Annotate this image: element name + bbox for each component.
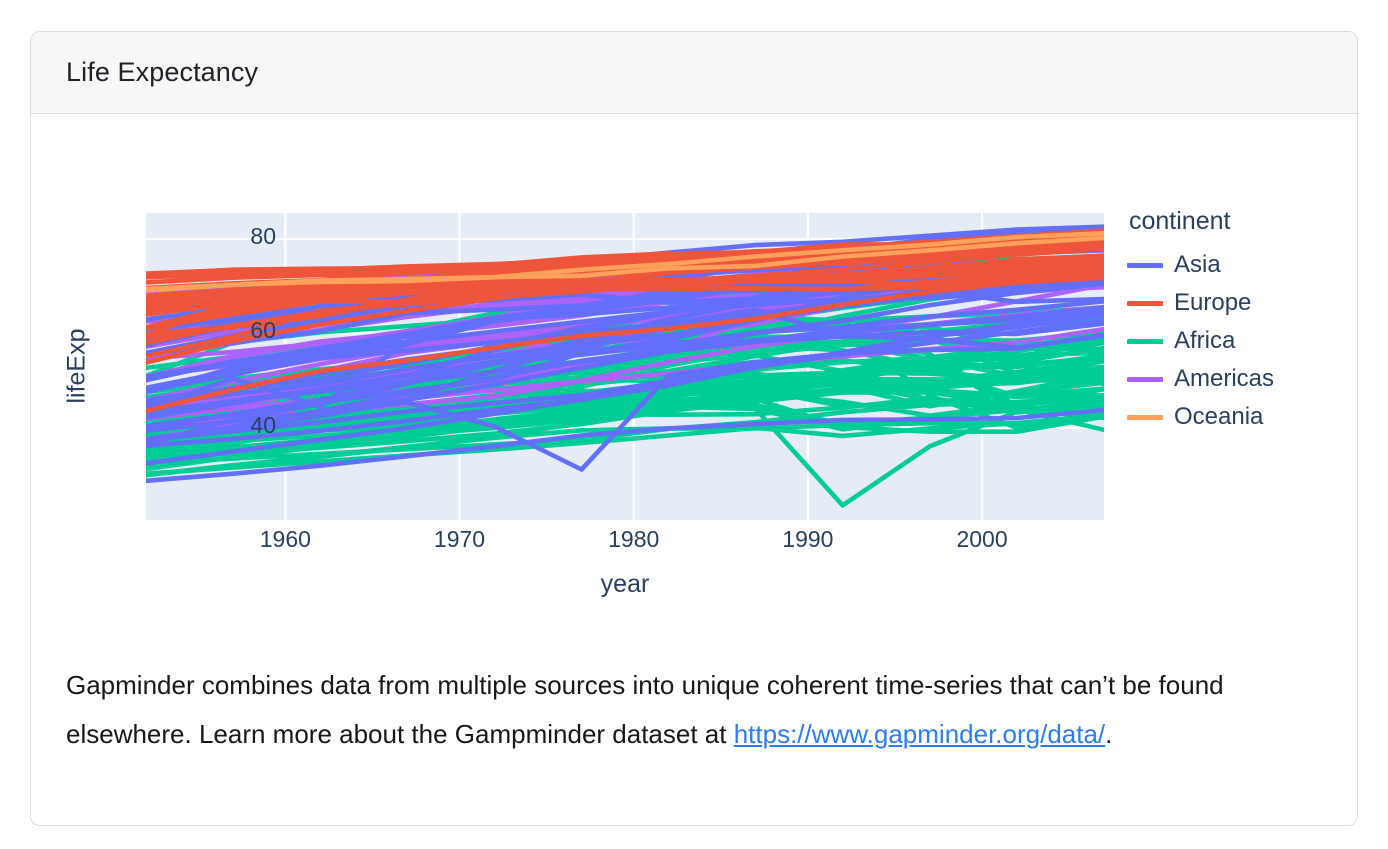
legend-item-americas[interactable]: Americas xyxy=(1127,360,1347,398)
legend-color-swatch xyxy=(1127,339,1163,344)
card-header: Life Expectancy xyxy=(31,32,1357,114)
legend-item-label: Oceania xyxy=(1174,403,1263,431)
legend-item-asia[interactable]: Asia xyxy=(1127,246,1347,284)
plot-canvas xyxy=(146,213,1104,520)
y-axis-tick-label: 80 xyxy=(250,223,276,250)
chart-legend: continent AsiaEuropeAfricaAmericasOceani… xyxy=(1127,207,1347,436)
legend-item-label: Europe xyxy=(1174,289,1251,317)
legend-item-label: Asia xyxy=(1174,251,1221,279)
life-expectancy-chart[interactable]: lifeExp 406080 19601970198019902000 year… xyxy=(31,114,1358,634)
gapminder-data-link[interactable]: https://www.gapminder.org/data/ xyxy=(734,719,1105,749)
legend-item-list: AsiaEuropeAfricaAmericasOceania xyxy=(1127,246,1347,436)
x-axis-label: year xyxy=(601,570,650,599)
life-expectancy-card: Life Expectancy lifeExp 406080 196019701… xyxy=(30,31,1358,826)
legend-color-swatch xyxy=(1127,377,1163,382)
legend-item-oceania[interactable]: Oceania xyxy=(1127,398,1347,436)
plot-area xyxy=(146,213,1104,520)
legend-color-swatch xyxy=(1127,263,1163,268)
x-axis-tick-label: 1960 xyxy=(260,526,311,553)
y-axis-tick-label: 60 xyxy=(250,317,276,344)
y-axis-label: lifeExp xyxy=(63,328,92,403)
x-axis-tick-label: 1970 xyxy=(434,526,485,553)
legend-title: continent xyxy=(1127,207,1347,236)
legend-item-africa[interactable]: Africa xyxy=(1127,322,1347,360)
x-axis-tick-label: 1980 xyxy=(608,526,659,553)
page-title: Life Expectancy xyxy=(66,57,258,88)
screen-root: Life Expectancy lifeExp 406080 196019701… xyxy=(0,0,1388,849)
legend-item-europe[interactable]: Europe xyxy=(1127,284,1347,322)
legend-item-label: Americas xyxy=(1174,365,1274,393)
legend-color-swatch xyxy=(1127,415,1163,420)
x-axis-tick-label: 1990 xyxy=(782,526,833,553)
description-text-after-link: . xyxy=(1105,719,1112,749)
legend-item-label: Africa xyxy=(1174,327,1235,355)
legend-color-swatch xyxy=(1127,301,1163,306)
card-body: lifeExp 406080 19601970198019902000 year… xyxy=(31,114,1357,825)
dataset-description: Gapminder combines data from multiple so… xyxy=(66,661,1324,759)
x-axis-tick-label: 2000 xyxy=(956,526,1007,553)
y-axis-tick-label: 40 xyxy=(250,412,276,439)
